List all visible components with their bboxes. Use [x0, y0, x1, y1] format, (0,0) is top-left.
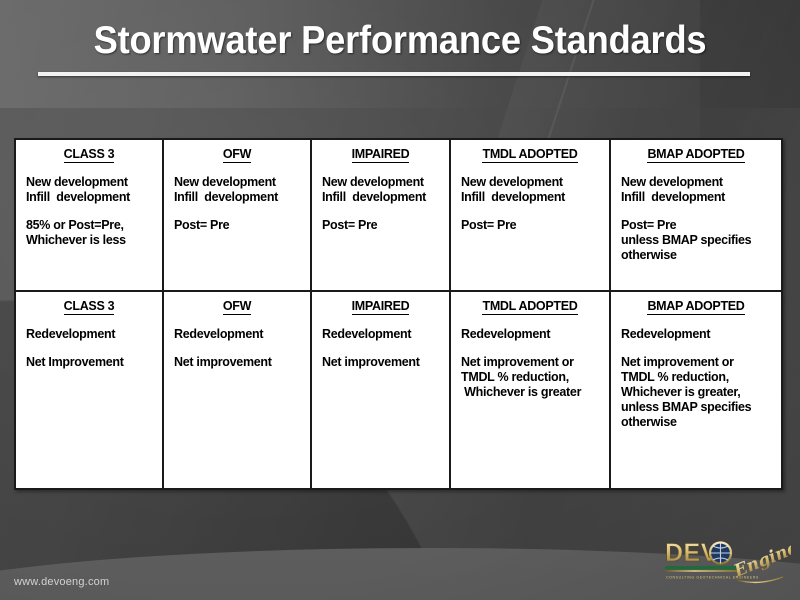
cell-body: RedevelopmentNet improvement orTMDL % re…	[611, 315, 781, 430]
cell-body: RedevelopmentNet improvement orTMDL % re…	[451, 315, 609, 400]
cell-text-block: New developmentInfill development	[322, 175, 449, 205]
table-cell: IMPAIREDNew developmentInfill developmen…	[310, 140, 449, 290]
table-cell: OFWRedevelopmentNet improvement	[162, 292, 310, 488]
column-header-label: OFW	[223, 299, 251, 315]
cell-text-line: TMDL % reduction,	[461, 370, 609, 385]
cell-text-block: New developmentInfill development	[174, 175, 310, 205]
cell-text-line: Post= Pre	[322, 218, 449, 233]
cell-text-line: otherwise	[621, 415, 781, 430]
cell-text-line: Post= Pre	[461, 218, 609, 233]
table-cell: TMDL ADOPTEDNew developmentInfill develo…	[449, 140, 609, 290]
column-header-label: IMPAIRED	[352, 299, 410, 315]
devo-engineering-logo: DEV CONSULTING GEOTECHNICAL ENGINEERS En…	[663, 534, 791, 590]
cell-text-block: Redevelopment	[174, 327, 310, 342]
table-cell: CLASS 3RedevelopmentNet Improvement	[16, 292, 162, 488]
redevelopment-row: CLASS 3RedevelopmentNet ImprovementOFWRe…	[16, 290, 781, 488]
cell-body: New developmentInfill developmentPost= P…	[611, 163, 781, 263]
cell-text-block: New developmentInfill development	[26, 175, 162, 205]
column-header: CLASS 3	[16, 299, 162, 315]
cell-text-block: Net improvement orTMDL % reduction, Whic…	[461, 355, 609, 400]
cell-text-line: Infill development	[621, 190, 781, 205]
column-header: TMDL ADOPTED	[451, 147, 609, 163]
cell-text-line: Net Improvement	[26, 355, 162, 370]
column-header-label: BMAP ADOPTED	[647, 299, 744, 315]
table-cell: BMAP ADOPTEDRedevelopmentNet improvement…	[609, 292, 781, 488]
title-underline-rule	[38, 72, 750, 76]
cell-text-line: unless BMAP specifies	[621, 400, 781, 415]
cell-text-block: Redevelopment	[26, 327, 162, 342]
cell-text-line: Whichever is greater,	[621, 385, 781, 400]
cell-text-line: Net improvement	[322, 355, 449, 370]
cell-text-line: Post= Pre	[174, 218, 310, 233]
cell-body: New developmentInfill developmentPost= P…	[451, 163, 609, 233]
column-header: OFW	[164, 299, 310, 315]
cell-text-line: Whichever is greater	[461, 385, 609, 400]
cell-text-block: Post= Preunless BMAP specifiesotherwise	[621, 218, 781, 263]
cell-text-line: unless BMAP specifies	[621, 233, 781, 248]
cell-body: New developmentInfill developmentPost= P…	[312, 163, 449, 233]
cell-text-line: 85% or Post=Pre,	[26, 218, 162, 233]
cell-text-line: Redevelopment	[461, 327, 609, 342]
column-header: BMAP ADOPTED	[611, 147, 781, 163]
column-header-label: IMPAIRED	[352, 147, 410, 163]
column-header: BMAP ADOPTED	[611, 299, 781, 315]
cell-text-line: otherwise	[621, 248, 781, 263]
devo-logo-svg: DEV CONSULTING GEOTECHNICAL ENGINEERS En…	[663, 534, 791, 590]
logo-script-engineering: Engineering	[730, 534, 791, 582]
cell-text-line: Infill development	[174, 190, 310, 205]
cell-text-line: Post= Pre	[621, 218, 781, 233]
cell-text-block: Redevelopment	[461, 327, 609, 342]
footer-website-url[interactable]: www.devoeng.com	[14, 576, 109, 588]
column-header-label: TMDL ADOPTED	[482, 147, 577, 163]
column-header-label: TMDL ADOPTED	[482, 299, 577, 315]
cell-body: RedevelopmentNet Improvement	[16, 315, 162, 370]
table-cell: TMDL ADOPTEDRedevelopmentNet improvement…	[449, 292, 609, 488]
table-cell: CLASS 3New developmentInfill development…	[16, 140, 162, 290]
table-cell: BMAP ADOPTEDNew developmentInfill develo…	[609, 140, 781, 290]
cell-text-line: Net improvement or	[621, 355, 781, 370]
cell-text-block: New developmentInfill development	[621, 175, 781, 205]
new-development-row: CLASS 3New developmentInfill development…	[16, 140, 781, 290]
cell-text-line: Infill development	[26, 190, 162, 205]
cell-text-block: Net Improvement	[26, 355, 162, 370]
cell-text-line: Infill development	[322, 190, 449, 205]
cell-text-block: Net improvement	[322, 355, 449, 370]
cell-body: New developmentInfill developmentPost= P…	[164, 163, 310, 233]
column-header: TMDL ADOPTED	[451, 299, 609, 315]
cell-text-line: New development	[174, 175, 310, 190]
cell-text-block: Post= Pre	[174, 218, 310, 233]
column-header-label: OFW	[223, 147, 251, 163]
cell-text-line: Redevelopment	[621, 327, 781, 342]
column-header: IMPAIRED	[312, 147, 449, 163]
cell-text-line: Net improvement	[174, 355, 310, 370]
column-header-label: BMAP ADOPTED	[647, 147, 744, 163]
column-header: IMPAIRED	[312, 299, 449, 315]
title-container: Stormwater Performance Standards	[0, 18, 800, 64]
slide-canvas: Stormwater Performance Standards CLASS 3…	[0, 0, 800, 600]
column-header-label: CLASS 3	[64, 299, 115, 315]
cell-body: New developmentInfill development85% or …	[16, 163, 162, 248]
cell-text-block: Post= Pre	[322, 218, 449, 233]
cell-text-line: Infill development	[461, 190, 609, 205]
cell-body: RedevelopmentNet improvement	[312, 315, 449, 370]
cell-text-block: New developmentInfill development	[461, 175, 609, 205]
cell-text-line: Redevelopment	[322, 327, 449, 342]
cell-text-line: Net improvement or	[461, 355, 609, 370]
column-header: OFW	[164, 147, 310, 163]
column-header: CLASS 3	[16, 147, 162, 163]
cell-text-block: 85% or Post=Pre,Whichever is less	[26, 218, 162, 248]
cell-text-block: Redevelopment	[621, 327, 781, 342]
logo-green-rule	[665, 566, 738, 569]
cell-text-line: New development	[461, 175, 609, 190]
table-cell: IMPAIREDRedevelopmentNet improvement	[310, 292, 449, 488]
cell-text-block: Net improvement orTMDL % reduction,Which…	[621, 355, 781, 430]
cell-text-line: Redevelopment	[26, 327, 162, 342]
column-header-label: CLASS 3	[64, 147, 115, 163]
slide-title: Stormwater Performance Standards	[28, 18, 772, 64]
table-cell: OFWNew developmentInfill developmentPost…	[162, 140, 310, 290]
cell-text-block: Redevelopment	[322, 327, 449, 342]
cell-text-line: Redevelopment	[174, 327, 310, 342]
cell-text-block: Net improvement	[174, 355, 310, 370]
performance-standards-table: CLASS 3New developmentInfill development…	[14, 138, 783, 490]
cell-text-line: New development	[322, 175, 449, 190]
logo-gold-rule	[665, 570, 738, 572]
cell-text-line: New development	[26, 175, 162, 190]
cell-text-line: TMDL % reduction,	[621, 370, 781, 385]
cell-text-line: Whichever is less	[26, 233, 162, 248]
cell-text-block: Post= Pre	[461, 218, 609, 233]
cell-body: RedevelopmentNet improvement	[164, 315, 310, 370]
cell-text-line: New development	[621, 175, 781, 190]
